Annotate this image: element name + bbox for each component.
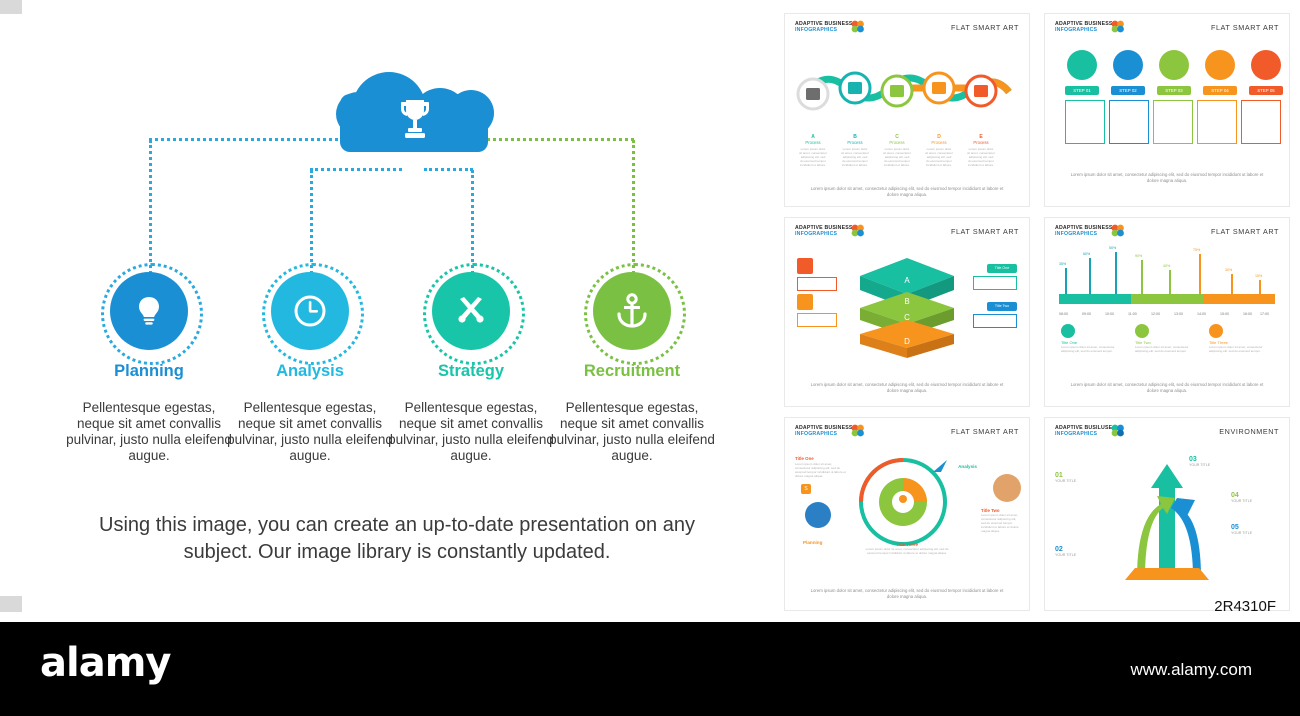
thumb-header-title: FLAT SMART ART: [951, 23, 1019, 32]
card-text: Lorem ipsum dolor sit amet, consectetur …: [1209, 345, 1273, 353]
thumb-body-text: Lorem ipsum dolor sit amet, consectetur …: [805, 186, 1010, 198]
thumb-environment[interactable]: ADAPTIVE BUSILUSE INFOGRAPHICS ENVIRONME…: [1045, 418, 1289, 610]
brand-dots-icon: [1111, 20, 1124, 33]
time-label: 08:00: [1059, 312, 1068, 316]
cloud-shape: [340, 76, 488, 168]
brand-logo: ADAPTIVE BUSINESS INFOGRAPHICS: [1055, 21, 1113, 33]
percent-label: 30%: [1225, 268, 1232, 272]
percent-label: 90%: [1135, 254, 1142, 258]
brand-line2: INFOGRAPHICS: [1055, 27, 1113, 33]
thumb-header-title: FLAT SMART ART: [951, 427, 1019, 436]
time-label: 11:00: [1128, 312, 1137, 316]
anchor-icon: [614, 292, 650, 330]
item-number: 01: [1055, 472, 1099, 479]
corner-mark-tl: [0, 0, 22, 14]
thumb-header-title: ENVIRONMENT: [1219, 427, 1279, 436]
brand-logo: ADAPTIVE BUSINESS INFOGRAPHICS: [795, 21, 853, 33]
item-number: 04: [1231, 492, 1275, 499]
time-label: 13:00: [1174, 312, 1183, 316]
time-label: 16:00: [1243, 312, 1252, 316]
thumb-header: ADAPTIVE BUSINESS INFOGRAPHICS FLAT SMAR…: [785, 418, 1029, 442]
brand-line2: INFOGRAPHICS: [795, 431, 853, 437]
brand-logo: ADAPTIVE BUSINESS INFOGRAPHICS: [795, 225, 853, 237]
circular-arrow-diagram: [833, 446, 983, 556]
brand-line2: INFOGRAPHICS: [1055, 231, 1113, 237]
tag-label: Title One: [987, 264, 1017, 273]
label-text: Lorem ipsum dolor sit amet, consectetur …: [795, 462, 847, 478]
brand-dots-icon: [1111, 224, 1124, 237]
time-label: 09:00: [1082, 312, 1091, 316]
step-text: Lorem ipsum dolor sit amet, consectetur …: [799, 147, 827, 167]
connector-planning-vertical: [149, 140, 152, 274]
thumb-header: ADAPTIVE BUSINESS INFOGRAPHICS FLAT SMAR…: [1045, 14, 1289, 38]
thumb-header: ADAPTIVE BUSINESS INFOGRAPHICS FLAT SMAR…: [785, 14, 1029, 38]
label-title-one: Title One: [795, 456, 847, 461]
node-desc-analysis: Pellentesque egestas, neque sit amet con…: [225, 400, 395, 464]
thumb-body-text: Lorem ipsum dolor sit amet, consectetur …: [1065, 382, 1270, 394]
layer-stack: A B C D: [842, 252, 972, 362]
percent-label: 15%: [1255, 274, 1262, 278]
node-disc: [593, 272, 671, 350]
node-disc: [110, 272, 188, 350]
thumb-header-title: FLAT SMART ART: [951, 227, 1019, 236]
thumb-step-cards[interactable]: ADAPTIVE BUSINESS INFOGRAPHICS FLAT SMAR…: [1045, 14, 1289, 206]
thumb-body: Title One Lorem ipsum dolor sit amet, co…: [785, 442, 1029, 610]
card-text: Lorem ipsum dolor sit amet, consectetur …: [1061, 345, 1125, 353]
step-label: Process: [799, 140, 827, 145]
thumb-circle-arrows[interactable]: ADAPTIVE BUSINESS INFOGRAPHICS FLAT SMAR…: [785, 418, 1029, 610]
brand-dots-icon: [851, 20, 864, 33]
alamy-url: www.alamy.com: [1130, 660, 1252, 680]
brand-dots-icon: [851, 224, 864, 237]
item-label: YOUR TITLE: [1231, 499, 1275, 503]
thumb-header: ADAPTIVE BUSINESS INFOGRAPHICS FLAT SMAR…: [1045, 218, 1289, 242]
item-label: YOUR TITLE: [1055, 479, 1099, 483]
step-badge: STEP 02: [1111, 86, 1145, 95]
connector-strategy-horizontal: [424, 168, 473, 171]
item-label: YOUR TITLE: [1055, 553, 1099, 557]
step-text: Lorem ipsum dolor sit amet, consectetur …: [925, 147, 953, 167]
tag-label: Title Two: [987, 302, 1017, 311]
step-label: Process: [841, 140, 869, 145]
thumb-header-title: FLAT SMART ART: [1211, 23, 1279, 32]
card-text: Lorem ipsum dolor sit amet, consectetur …: [1135, 345, 1199, 353]
label-analysis: Analysis: [958, 464, 977, 469]
arrow-growth-graphic: [1107, 448, 1227, 588]
connector-planning-horizontal: [149, 138, 344, 141]
avatar: [805, 502, 831, 528]
node-disc: [271, 272, 349, 350]
brand-line2: INFOGRAPHICS: [795, 231, 853, 237]
svg-text:D: D: [904, 337, 910, 346]
step-text: Lorem ipsum dolor sit amet, consectetur …: [841, 147, 869, 167]
thumb-body-text: Lorem ipsum dolor sit amet, consectetur …: [805, 588, 1010, 600]
thumb-body: A Process Lorem ipsum dolor sit amet, co…: [785, 38, 1029, 206]
thumb-timeline[interactable]: ADAPTIVE BUSINESS INFOGRAPHICS FLAT SMAR…: [1045, 218, 1289, 406]
process-ribbon: [785, 58, 1029, 138]
thumb-header: ADAPTIVE BUSINESS INFOGRAPHICS FLAT SMAR…: [785, 218, 1029, 242]
image-id: 2R4310F: [1214, 598, 1276, 615]
label-text: Lorem ipsum dolor sit amet, consectetur …: [981, 513, 1021, 533]
time-label: 12:00: [1151, 312, 1160, 316]
step-label: Process: [925, 140, 953, 145]
thumb-header-title: FLAT SMART ART: [1211, 227, 1279, 236]
alamy-logo: alamy: [40, 640, 170, 686]
step-badge: STEP 01: [1065, 86, 1099, 95]
step-label: Process: [967, 140, 995, 145]
connector-analysis-horizontal: [310, 168, 402, 171]
brand-logo: ADAPTIVE BUSINESS INFOGRAPHICS: [1055, 225, 1113, 237]
trophy-icon: [400, 98, 430, 144]
percent-label: 60%: [1083, 252, 1090, 256]
svg-text:A: A: [904, 276, 910, 285]
watermark-bar: [0, 622, 1300, 716]
step-badge: STEP 05: [1249, 86, 1283, 95]
time-label: 15:00: [1220, 312, 1229, 316]
alamy-logo-text: alamy: [40, 640, 170, 686]
percent-label: 35%: [1059, 262, 1066, 266]
svg-text:B: B: [904, 297, 909, 306]
lightbulb-icon: [130, 292, 168, 330]
label-text: Lorem ipsum dolor sit amet, consectetur …: [863, 547, 951, 555]
connector-recruitment-vertical: [632, 140, 635, 274]
brand-logo: ADAPTIVE BUSILUSE INFOGRAPHICS: [1055, 425, 1112, 437]
step-badge: STEP 04: [1203, 86, 1237, 95]
node-strategy[interactable]: [432, 272, 510, 350]
brand-dots-icon: [1111, 424, 1124, 437]
percent-label: 50%: [1109, 246, 1116, 250]
node-disc: [432, 272, 510, 350]
svg-text:C: C: [904, 313, 910, 322]
thumb-body-text: Lorem ipsum dolor sit amet, consectetur …: [805, 382, 1010, 394]
node-desc-strategy: Pellentesque egestas, neque sit amet con…: [386, 400, 556, 464]
item-number: 02: [1055, 546, 1099, 553]
step-badge: STEP 03: [1157, 86, 1191, 95]
thumb-process-steps[interactable]: ADAPTIVE BUSINESS INFOGRAPHICS FLAT SMAR…: [785, 14, 1029, 206]
node-planning[interactable]: [110, 272, 188, 350]
time-label: 14:00: [1197, 312, 1206, 316]
thumb-layer-pyramid[interactable]: ADAPTIVE BUSINESS INFOGRAPHICS FLAT SMAR…: [785, 218, 1029, 406]
brand-dots-icon: [851, 424, 864, 437]
percent-label: 75%: [1193, 248, 1200, 252]
brand-line2: INFOGRAPHICS: [795, 27, 853, 33]
corner-mark-bl: [0, 596, 22, 612]
step-label: Process: [883, 140, 911, 145]
thumb-body: STEP 01 STEP 02 STEP 03 STEP 04 STEP 05 …: [1045, 38, 1289, 206]
badge-s: S: [801, 484, 811, 494]
brand-logo: ADAPTIVE BUSINESS INFOGRAPHICS: [795, 425, 853, 437]
item-label: YOUR TITLE: [1231, 531, 1275, 535]
step-text: Lorem ipsum dolor sit amet, consectetur …: [967, 147, 995, 167]
avatar: [993, 474, 1021, 502]
brand-line2: INFOGRAPHICS: [1055, 431, 1112, 437]
step-text: Lorem ipsum dolor sit amet, consectetur …: [883, 147, 911, 167]
slide-canvas: Planning Pellentesque egestas, neque sit…: [0, 0, 1300, 716]
item-number: 03: [1189, 456, 1233, 463]
clock-icon: [290, 291, 330, 331]
connector-recruitment-horizontal: [482, 138, 634, 141]
item-number: 05: [1231, 524, 1275, 531]
time-label: 17:00: [1260, 312, 1269, 316]
connector-strategy-vertical: [471, 170, 474, 274]
label-planning: Planning: [803, 540, 822, 545]
thumb-header: ADAPTIVE BUSILUSE INFOGRAPHICS ENVIRONME…: [1045, 418, 1289, 442]
thumb-body: 01 YOUR TITLE 02 YOUR TITLE 03 YOUR TITL…: [1045, 442, 1289, 610]
percent-label: 40%: [1163, 264, 1170, 268]
node-desc-planning: Pellentesque egestas, neque sit amet con…: [64, 400, 234, 464]
node-analysis[interactable]: [271, 272, 349, 350]
item-label: YOUR TITLE: [1189, 463, 1233, 467]
node-title-recruitment: Recruitment: [537, 362, 727, 381]
thumb-body-text: Lorem ipsum dolor sit amet, consectetur …: [1065, 172, 1270, 184]
node-desc-recruitment: Pellentesque egestas, neque sit amet con…: [547, 400, 717, 464]
thumb-body: 35% 60% 50% 90% 40% 75% 30% 15% 08:00 09…: [1045, 242, 1289, 406]
connector-analysis-vertical: [310, 170, 313, 274]
node-recruitment[interactable]: [593, 272, 671, 350]
main-slide: Planning Pellentesque egestas, neque sit…: [22, 14, 768, 610]
slide-footer-text: Using this image, you can create an up-t…: [82, 512, 712, 566]
tools-icon: [451, 291, 491, 331]
thumb-body: A B C D Title One Title Two Lorem ips: [785, 242, 1029, 406]
time-label: 10:00: [1105, 312, 1114, 316]
